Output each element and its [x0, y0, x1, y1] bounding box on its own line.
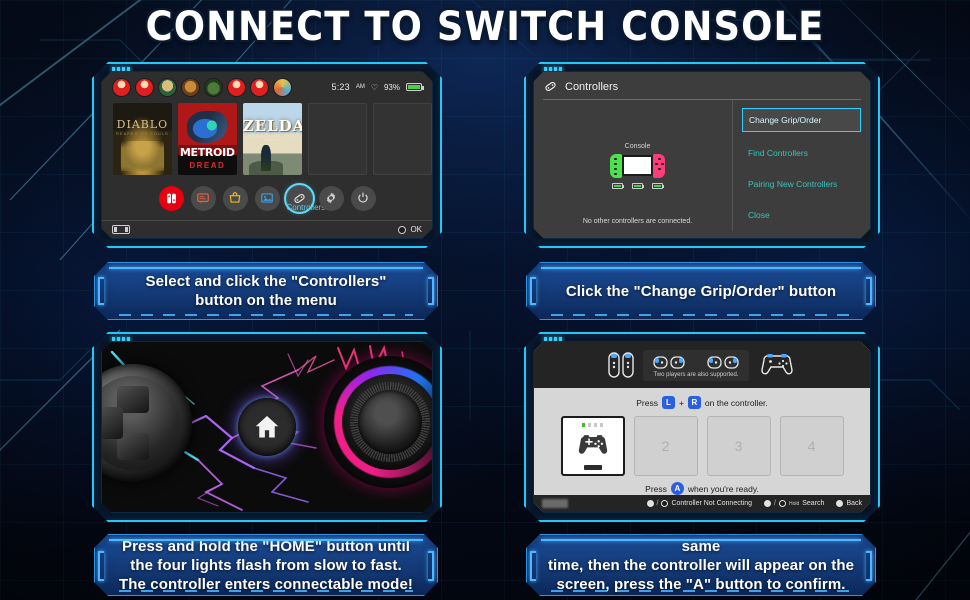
player-slots: 2 3 4	[561, 416, 844, 476]
joycon-horizontal-icon	[707, 354, 739, 371]
controllers-icon[interactable]: Controllers	[287, 186, 312, 211]
clock-ampm: AM	[356, 84, 365, 90]
news-icon[interactable]	[191, 186, 216, 211]
avatar[interactable]	[112, 78, 131, 97]
avatar[interactable]	[181, 78, 200, 97]
game-subtitle: DREAD	[178, 161, 237, 170]
console-illustration	[610, 154, 665, 178]
controllers-icon	[543, 79, 558, 94]
caption-dashes	[119, 590, 413, 592]
panel-change-grip-order: Two players are also supported. Press	[524, 332, 880, 522]
caption-bracket-left	[530, 277, 536, 305]
diablo-art	[121, 141, 164, 171]
caption-dashes	[551, 590, 851, 592]
caption-top-rail	[109, 539, 423, 541]
game-subtitle: REAPER OF SOULS	[113, 131, 172, 136]
nintendo-switch-online-icon[interactable]	[159, 186, 184, 211]
pro-controller-icon	[758, 352, 796, 378]
grip-styles-bar: Two players are also supported.	[534, 342, 870, 388]
game-tile-diablo[interactable]: DIABLO REAPER OF SOULS	[113, 103, 172, 175]
game-tile-empty[interactable]	[373, 103, 432, 175]
player-slot-1[interactable]	[561, 416, 625, 476]
hint-search[interactable]: / Hold Search	[764, 500, 824, 507]
player-slot-2[interactable]: 2	[634, 416, 698, 476]
avatar[interactable]	[273, 78, 292, 97]
player-leds	[582, 423, 604, 427]
controllers-header: Controllers	[543, 79, 861, 100]
caption-bracket-right	[866, 551, 872, 581]
caption-text: Press and hold the "HOME" button until t…	[105, 537, 427, 594]
clock-time: 5:23	[331, 82, 349, 92]
game-tile-zelda[interactable]: ZELDA BREATH OF THE WILD	[243, 103, 302, 175]
hint-sublabel: Hold	[789, 501, 799, 507]
console-label: Console	[625, 143, 651, 150]
press-a-instruction: Press A when you're ready.	[645, 482, 759, 495]
caption-top-rail	[541, 267, 861, 269]
settings-icon[interactable]	[319, 186, 344, 211]
ready-suffix: when you're ready.	[688, 484, 759, 494]
home-status-bar: 5:23 AM ♡ 93%	[102, 72, 432, 102]
r-button-icon: R	[688, 396, 701, 409]
console-screen	[622, 155, 653, 176]
battery-percent-label: 93%	[384, 83, 400, 92]
menu-item-change-grip-order[interactable]: Change Grip/Order	[742, 108, 861, 132]
panel-controller-closeup	[92, 332, 442, 522]
hint-label: Search	[802, 500, 824, 507]
user-avatars[interactable]	[112, 78, 292, 97]
eshop-icon[interactable]	[223, 186, 248, 211]
joycon-horizontal-icon	[653, 354, 685, 371]
heart-icon: ♡	[371, 83, 378, 92]
l-button-icon: L	[662, 396, 675, 409]
player-slot-3[interactable]: 3	[707, 416, 771, 476]
battery-icon	[612, 183, 623, 189]
console-status-area: Console	[543, 100, 733, 231]
caption-text: Press the "L1" and "R2" buttons at the s…	[527, 518, 875, 600]
home-icon	[252, 412, 282, 442]
panel-switch-home-screen: 5:23 AM ♡ 93% DIABLO REAPER OF SOULS	[101, 71, 433, 239]
controllers-screen: Controllers Console	[533, 71, 871, 239]
change-grip-order-screen: Two players are also supported. Press	[533, 341, 871, 513]
ready-prefix: Press	[645, 484, 667, 494]
game-tiles-row: DIABLO REAPER OF SOULS METROID DREAD ZEL…	[102, 102, 432, 176]
joycon-pair-icon	[608, 351, 634, 379]
ok-label: OK	[410, 225, 422, 234]
console-icon	[112, 225, 130, 234]
controllers-title: Controllers	[565, 81, 618, 93]
game-title: METROID	[178, 146, 237, 159]
controller-grip-bar	[584, 465, 602, 470]
caption-top-rail	[109, 267, 423, 269]
a-button-icon	[398, 226, 406, 234]
caption-step-3: Press and hold the "HOME" button until t…	[94, 534, 438, 596]
caption-text: Select and click the "Controllers" butto…	[131, 272, 400, 310]
two-player-bubble: Two players are also supported.	[643, 350, 749, 381]
caption-step-2: Click the "Change Grip/Order" button	[526, 262, 876, 320]
home-footer-bar: OK	[102, 220, 432, 238]
caption-dashes	[551, 314, 851, 316]
caption-bracket-right	[866, 277, 872, 305]
poster-root: CONNECT TO SWITCH CONSOLE	[0, 0, 970, 600]
grip-footer-bar: / Controller Not Connecting / Hold Searc…	[534, 495, 870, 512]
page-title: CONNECT TO SWITCH CONSOLE	[39, 2, 931, 54]
power-icon[interactable]	[351, 186, 376, 211]
menu-item-pairing-new-controllers[interactable]: Pairing New Controllers	[742, 174, 861, 194]
metroid-art	[187, 111, 227, 143]
caption-bracket-left	[98, 277, 104, 305]
two-player-note: Two players are also supported.	[653, 372, 738, 378]
album-icon[interactable]	[255, 186, 280, 211]
caption-step-1: Select and click the "Controllers" butto…	[94, 262, 438, 320]
caption-text: Click the "Change Grip/Order" button	[552, 282, 850, 301]
selected-icon-label: Controllers	[287, 203, 312, 212]
menu-item-find-controllers[interactable]: Find Controllers	[742, 143, 861, 163]
caption-bracket-right	[428, 551, 434, 581]
avatar[interactable]	[250, 78, 269, 97]
plus-sign: +	[679, 398, 684, 408]
avatar[interactable]	[135, 78, 154, 97]
avatar[interactable]	[204, 78, 223, 97]
home-icon-row: Controllers	[102, 176, 432, 220]
caption-bracket-right	[428, 277, 434, 305]
game-tile-metroid[interactable]: METROID DREAD	[178, 103, 237, 175]
press-prefix: Press	[636, 398, 658, 408]
caption-top-rail	[541, 539, 861, 541]
zelda-art-hero	[261, 145, 271, 171]
menu-item-close[interactable]: Close	[742, 205, 861, 225]
hint-controller-not-connecting[interactable]: / Controller Not Connecting	[647, 500, 753, 507]
ok-hint[interactable]: OK	[398, 225, 422, 234]
player-slot-4[interactable]: 4	[780, 416, 844, 476]
game-title: ZELDA	[243, 117, 302, 135]
press-suffix: on the controller.	[705, 398, 768, 408]
pairing-area: Press L + R on the controller.	[534, 388, 870, 495]
battery-icon	[632, 183, 643, 189]
panel-switch-home: 5:23 AM ♡ 93% DIABLO REAPER OF SOULS	[92, 62, 442, 248]
no-controllers-note: No other controllers are connected.	[543, 218, 732, 225]
panel-controllers-menu: Controllers Console	[524, 62, 880, 248]
avatar[interactable]	[227, 78, 246, 97]
press-lr-instruction: Press L + R on the controller.	[636, 396, 768, 409]
hint-label: Controller Not Connecting	[671, 500, 752, 507]
a-button-icon: A	[671, 482, 684, 495]
game-tile-empty[interactable]	[308, 103, 367, 175]
dpad-icon	[102, 364, 192, 482]
game-title: DIABLO	[113, 118, 172, 131]
caption-step-4: Press the "L1" and "R2" buttons at the s…	[526, 534, 876, 596]
joycon-right-icon	[653, 154, 665, 178]
analog-stick-icon	[324, 356, 432, 488]
battery-icon	[652, 183, 663, 189]
joycon-left-icon	[610, 154, 622, 178]
pro-controller-icon	[575, 433, 611, 458]
home-button[interactable]	[238, 398, 296, 456]
controllers-menu-list: Change Grip/Order Find Controllers Pairi…	[733, 100, 861, 231]
controller-closeup-image	[101, 341, 433, 513]
game-subtitle: BREATH OF THE WILD	[243, 134, 302, 142]
caption-dashes	[119, 314, 413, 316]
caption-bracket-left	[98, 551, 104, 581]
avatar[interactable]	[158, 78, 177, 97]
footer-thumb	[542, 499, 568, 508]
battery-icon	[406, 83, 422, 91]
hint-back[interactable]: Back	[836, 500, 862, 507]
hint-label: Back	[846, 500, 862, 507]
controller-battery-row	[612, 183, 663, 189]
caption-bracket-left	[530, 551, 536, 581]
